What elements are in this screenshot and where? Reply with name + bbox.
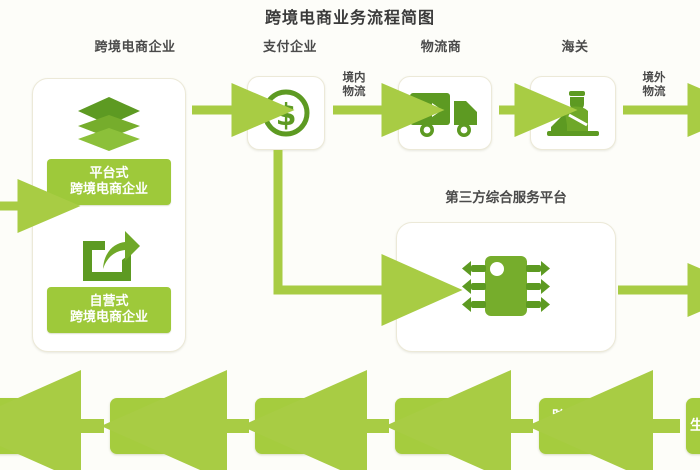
self-operated-type-chip[interactable]: 自营式 跨境电商企业	[47, 287, 171, 333]
bottom-box-cross-border-ecommerce-line1: 跨境电商企	[552, 409, 622, 425]
column-header-customs: 海关	[520, 36, 630, 55]
share-export-icon	[77, 227, 141, 283]
platform-title: 第三方综合服务平台	[396, 190, 616, 207]
bottom-box-cross-border-ecommerce[interactable]: 跨境电商企 业	[539, 398, 635, 454]
logistics-node[interactable]	[398, 76, 492, 150]
platform-type-line1: 平台式	[70, 166, 148, 182]
domestic-logistics-line1: 境内	[333, 70, 375, 84]
self-operated-line2: 跨境电商企业	[70, 310, 148, 326]
dollar-coin-icon: $	[262, 87, 310, 139]
diagram-canvas: 跨境电商业务流程简图 跨境电商企业 支付企业 物流商 海关 平台式 跨境电商企业	[0, 0, 700, 470]
bottom-box-producer[interactable]: 生	[686, 398, 700, 454]
bottom-box-cross-border-ecommerce-line2: 业	[580, 426, 594, 442]
third-party-platform-node[interactable]	[396, 222, 616, 352]
bottom-box-payment[interactable]: 支付	[395, 398, 493, 454]
self-operated-line1: 自营式	[70, 294, 148, 310]
domestic-logistics-label: 境内 物流	[333, 70, 375, 99]
bottom-box-customs-inspection[interactable]: 通关商检	[110, 398, 208, 454]
microchip-icon	[455, 250, 557, 326]
bottom-box-logistics[interactable]: 物流	[255, 398, 353, 454]
customs-node[interactable]	[530, 76, 616, 150]
column-header-payment-enterprise: 支付企业	[230, 36, 350, 55]
bottom-box-producer-label: 生	[690, 418, 700, 435]
arrow-payment-to-platform	[278, 150, 386, 290]
delivery-truck-icon	[408, 89, 482, 139]
platform-type-line2: 跨境电商企业	[70, 182, 148, 198]
bottom-box-customs-inspection-label: 通关商检	[131, 418, 187, 435]
customs-inspection-icon	[543, 87, 603, 139]
overseas-logistics-label: 境外 物流	[633, 70, 675, 99]
layers-icon	[76, 95, 142, 153]
svg-text:$: $	[276, 98, 297, 133]
page-title: 跨境电商业务流程简图	[0, 4, 700, 28]
platform-type-chip[interactable]: 平台式 跨境电商企业	[47, 159, 171, 205]
payment-node[interactable]: $	[247, 76, 325, 150]
bottom-box-consumer-enterprise-line1: 者、企	[0, 418, 36, 434]
bottom-box-consumer-enterprise-line2: 业	[40, 418, 54, 434]
bottom-box-consumer-enterprise[interactable]: 者、企 业	[0, 398, 62, 454]
bottom-box-logistics-label: 物流	[290, 418, 318, 435]
column-header-cross-border-ecommerce: 跨境电商企业	[35, 36, 235, 55]
domestic-logistics-line2: 物流	[333, 84, 375, 98]
overseas-logistics-line1: 境外	[633, 70, 675, 84]
column-header-logistics-provider: 物流商	[386, 36, 496, 55]
overseas-logistics-line2: 物流	[633, 84, 675, 98]
cross-border-enterprise-panel[interactable]: 平台式 跨境电商企业 自营式 跨境电商企业	[32, 78, 186, 352]
bottom-box-payment-label: 支付	[430, 418, 458, 435]
